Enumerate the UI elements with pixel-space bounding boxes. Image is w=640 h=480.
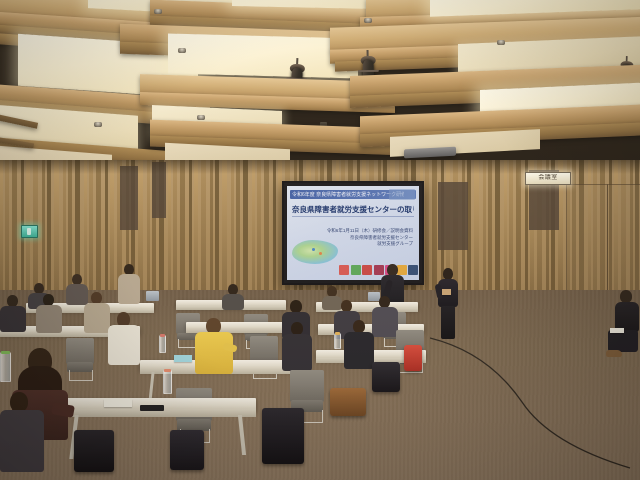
- slide-sdg-icons: [339, 265, 418, 275]
- slide-divider: [292, 216, 414, 217]
- audience-member: [36, 294, 62, 332]
- sdg-icon: [351, 265, 361, 275]
- laptop-screen: [146, 291, 159, 301]
- handout-paper: [174, 355, 192, 362]
- downlight-icon: [497, 40, 505, 45]
- observer-shoe: [606, 350, 622, 357]
- water-bottle: [0, 352, 11, 382]
- brown-leather-bag: [330, 388, 366, 416]
- observer-legs: [608, 330, 638, 352]
- wall-door[interactable]: [607, 184, 640, 304]
- emergency-exit-sign: [21, 225, 38, 238]
- handout-paper: [104, 399, 132, 407]
- wall-door[interactable]: [566, 184, 608, 304]
- audience-member: [84, 292, 110, 332]
- audience-member-yellow: [195, 318, 233, 374]
- audience-member-front: [0, 392, 44, 480]
- running-man-icon: [27, 228, 31, 235]
- wall-acoustic-panel: [120, 166, 138, 230]
- smartphone[interactable]: [140, 405, 164, 411]
- audience-member: [282, 322, 312, 370]
- slide-logo: [389, 189, 415, 200]
- conference-hall-photo: 会議室 令和6年度 奈良県障害者就労支援ネットワーク研修会資料 奈良県障害者就労…: [0, 0, 640, 480]
- presenter-standing-center: [437, 268, 459, 342]
- black-backpack: [262, 408, 304, 464]
- downlight-icon: [154, 9, 162, 14]
- presenter-legs: [441, 306, 455, 339]
- water-bottle: [159, 335, 166, 353]
- sdg-icon: [408, 265, 418, 275]
- observer-seated-right: [608, 290, 640, 368]
- red-shopping-bag: [404, 345, 422, 371]
- slide-byline: 令和6年1月11日（木）研修会／説明会資料 奈良県障害者就労支援センター 就労支…: [327, 228, 413, 248]
- observer-notepad: [610, 328, 624, 333]
- audience-member: [0, 295, 26, 331]
- black-backpack: [170, 430, 204, 470]
- downlight-icon: [178, 48, 186, 53]
- slide-map-graphic: [292, 240, 338, 264]
- audience-member: [222, 284, 244, 308]
- sdg-icon: [362, 265, 372, 275]
- water-bottle: [334, 333, 341, 349]
- wall-information-sign-label: 会議室: [528, 174, 568, 182]
- slide-header-text: 令和6年度 奈良県障害者就労支援ネットワーク研修会資料: [292, 191, 404, 199]
- black-backpack: [372, 362, 400, 392]
- slide-title: 奈良県障害者就労支援センターの取り組みについて: [292, 204, 414, 215]
- black-backpack: [74, 430, 114, 472]
- audience-member: [118, 264, 140, 304]
- downlight-icon: [197, 115, 205, 120]
- audience-member: [108, 312, 140, 364]
- slide-byline-line: 就労支援グループ: [327, 241, 413, 248]
- downlight-icon: [364, 18, 372, 23]
- presenter-documents: [442, 289, 451, 295]
- wall-acoustic-panel: [438, 182, 468, 250]
- water-bottle: [163, 370, 172, 394]
- ceiling: [0, 0, 640, 186]
- downlight-icon: [94, 122, 102, 127]
- audience-member: [372, 296, 398, 336]
- sdg-icon: [339, 265, 349, 275]
- slide-byline-line: 令和6年1月11日（木）研修会／説明会資料: [327, 228, 413, 235]
- wall-information-sign: 会議室: [525, 172, 571, 185]
- audience-member: [344, 320, 374, 368]
- chair: [66, 338, 94, 380]
